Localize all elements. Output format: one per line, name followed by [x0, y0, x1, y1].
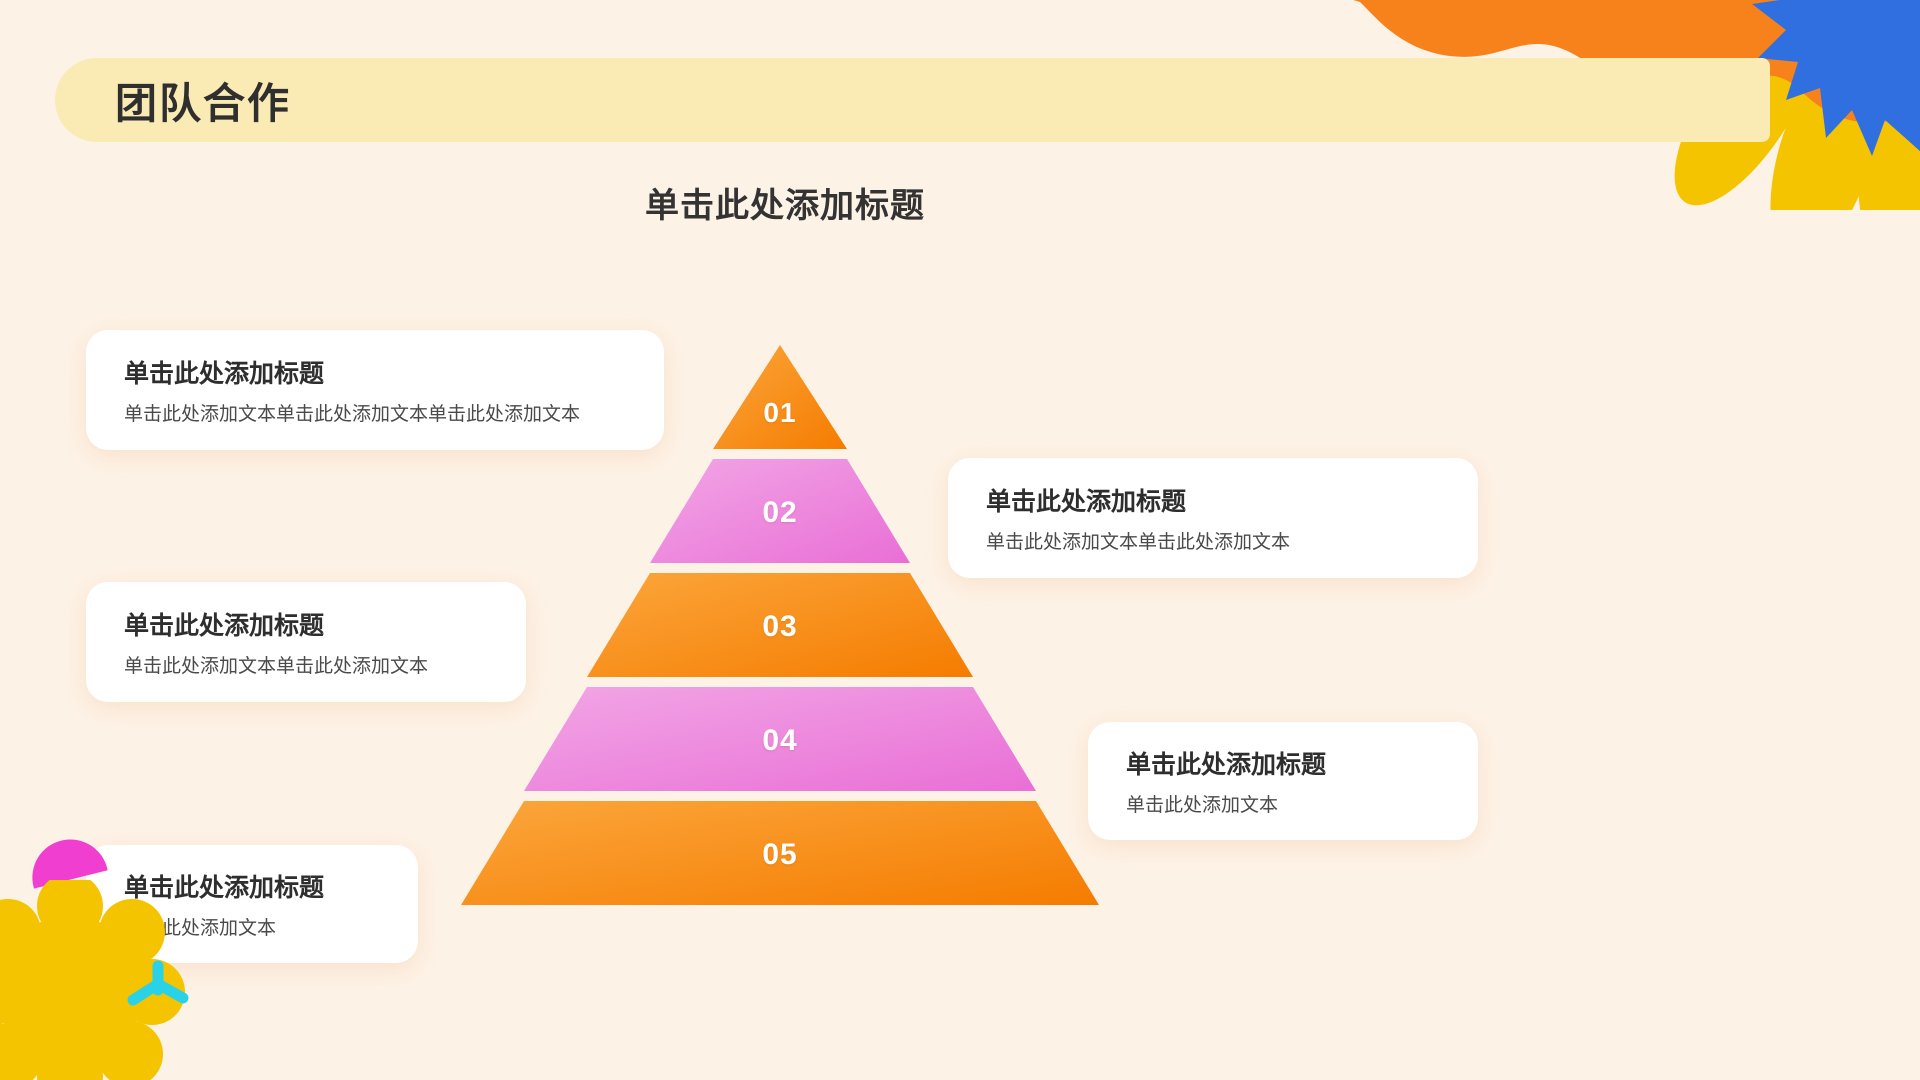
- info-card-right-2-body: 单击此处添加文本: [1118, 793, 1448, 819]
- pyramid-level-05-number: 05: [461, 838, 1099, 872]
- pyramid-level-05[interactable]: 05: [461, 801, 1099, 905]
- info-card-right-1-title: 单击此处添加标题: [978, 482, 1448, 518]
- pyramid-level-03[interactable]: 03: [587, 573, 973, 677]
- info-card-left-2[interactable]: 单击此处添加标题 单击此处添加文本单击此处添加文本: [86, 582, 526, 702]
- pyramid-level-02[interactable]: 02: [650, 459, 910, 563]
- slide-canvas: 团队合作 单击此处添加标题 01: [0, 0, 1920, 1080]
- pyramid-level-01-number: 01: [713, 397, 847, 429]
- info-card-left-1-body: 单击此处添加文本单击此处添加文本单击此处添加文本: [116, 402, 634, 428]
- info-card-left-2-title: 单击此处添加标题: [116, 606, 496, 642]
- pyramid-level-04[interactable]: 04: [524, 687, 1036, 791]
- page-title: 团队合作: [115, 70, 291, 131]
- pyramid-level-01[interactable]: 01: [713, 345, 847, 449]
- slide-title-banner: 团队合作: [55, 58, 1770, 142]
- info-card-left-3-title: 单击此处添加标题: [116, 868, 388, 904]
- info-card-left-1-title: 单击此处添加标题: [116, 354, 634, 390]
- pyramid-level-03-number: 03: [587, 610, 973, 644]
- chart-title: 单击此处添加标题: [0, 178, 1570, 227]
- cyan-star-shape: [125, 960, 191, 1012]
- info-card-right-2[interactable]: 单击此处添加标题 单击此处添加文本: [1088, 722, 1478, 840]
- pyramid-level-04-number: 04: [524, 724, 1036, 758]
- info-card-left-1[interactable]: 单击此处添加标题 单击此处添加文本单击此处添加文本单击此处添加文本: [86, 330, 664, 450]
- info-card-left-2-body: 单击此处添加文本单击此处添加文本: [116, 654, 496, 680]
- info-card-left-3[interactable]: 单击此处添加标题 单击此处添加文本: [86, 845, 418, 963]
- info-card-right-1[interactable]: 单击此处添加标题 单击此处添加文本单击此处添加文本: [948, 458, 1478, 578]
- info-card-right-1-body: 单击此处添加文本单击此处添加文本: [978, 530, 1448, 556]
- info-card-left-3-body: 单击此处添加文本: [116, 916, 388, 942]
- info-card-right-2-title: 单击此处添加标题: [1118, 745, 1448, 781]
- pyramid-level-02-number: 02: [650, 496, 910, 530]
